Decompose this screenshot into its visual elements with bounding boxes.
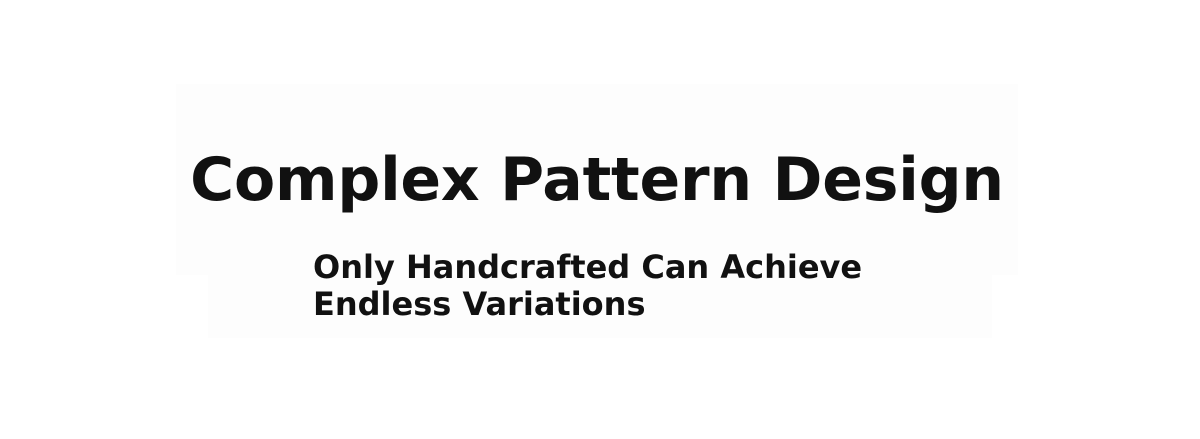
- title-container: Complex Pattern Design: [176, 84, 1018, 275]
- slide-canvas: Complex Pattern Design Only Handcrafted …: [0, 0, 1200, 439]
- page-subtitle: Only Handcrafted Can Achieve Endless Var…: [313, 249, 879, 323]
- page-title: Complex Pattern Design: [190, 147, 1004, 213]
- subtitle-container: Only Handcrafted Can Achieve Endless Var…: [313, 249, 879, 323]
